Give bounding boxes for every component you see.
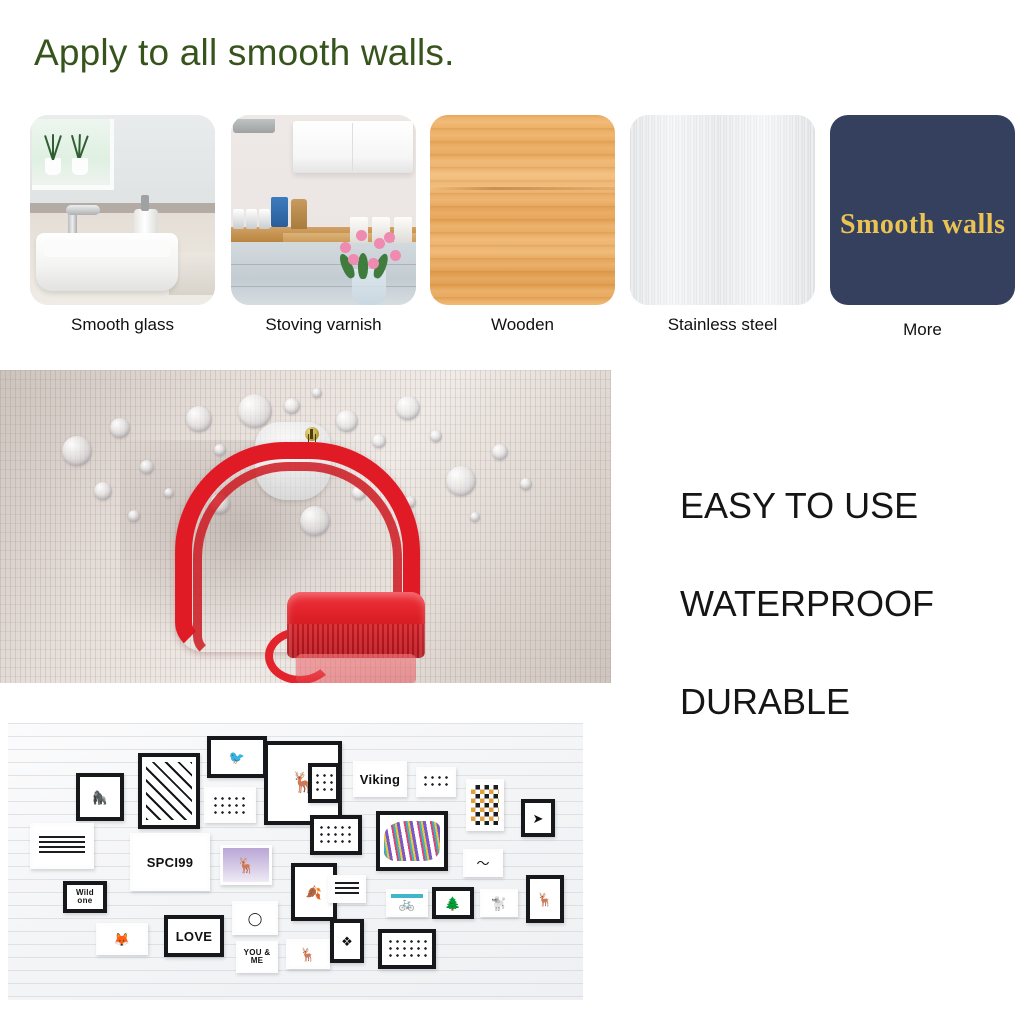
- picture-frame: 🦌: [286, 939, 330, 969]
- sink: [36, 233, 178, 291]
- surface-swatch-wooden[interactable]: Wooden: [430, 115, 615, 305]
- feature-durable: DURABLE: [680, 682, 1010, 722]
- cutting-board-icon: [291, 199, 307, 229]
- range-hood-icon: [233, 119, 275, 133]
- water-droplet: [396, 396, 420, 420]
- water-droplet: [470, 512, 480, 522]
- surface-swatch-stainless-steel[interactable]: Stainless steel: [630, 115, 815, 305]
- frame-text-you-me: YOU & ME: [239, 949, 275, 965]
- water-droplet: [446, 466, 476, 496]
- picture-frame: Wildone: [63, 881, 107, 913]
- water-droplet: [284, 398, 300, 414]
- picture-frame-spci99: SPCI99: [130, 833, 210, 891]
- surface-label-stoving-varnish: Stoving varnish: [231, 315, 416, 335]
- water-droplet: [140, 460, 154, 474]
- picture-frame-viking: Viking: [353, 761, 407, 797]
- picture-frame: [310, 815, 362, 855]
- picture-frame: 🦊: [96, 923, 148, 955]
- water-droplet: [336, 410, 358, 432]
- feature-list: EASY TO USE WATERPROOF DURABLE: [680, 486, 1010, 722]
- bottle-neck: [296, 654, 416, 683]
- surface-swatch-smooth-glass[interactable]: Smooth glass: [30, 115, 215, 305]
- frame-text-viking: Viking: [360, 773, 401, 786]
- surface-label-wooden: Wooden: [430, 315, 615, 335]
- stainless-steel-image: [630, 115, 815, 305]
- photo-wall-image: 🦍 🐦 🦌 SPCI99 Wildone 🍂 🦊 LOVE ◯ YOU & ME…: [8, 723, 583, 1000]
- picture-frame: 🦌: [526, 875, 564, 923]
- picture-frame: [378, 929, 436, 969]
- picture-frame: [416, 767, 456, 797]
- wall-trim: [30, 203, 215, 213]
- feature-waterproof: WATERPROOF: [680, 584, 1010, 624]
- picture-frame-love: LOVE: [164, 915, 224, 957]
- frame-text-spci99: SPCI99: [147, 856, 194, 869]
- smooth-glass-image: [30, 115, 215, 305]
- kitchen-scene: [231, 115, 416, 305]
- water-droplet: [110, 418, 130, 438]
- picture-frame: [466, 779, 504, 831]
- picture-frame: [30, 823, 94, 869]
- wooden-image: [430, 115, 615, 305]
- water-droplet: [492, 444, 508, 460]
- navy-card: Smooth walls: [830, 115, 1015, 305]
- water-droplet: [430, 430, 442, 442]
- navy-card-text: Smooth walls: [840, 209, 1005, 241]
- surface-label-stainless-steel: Stainless steel: [630, 315, 815, 335]
- hook-screw-icon: [305, 427, 319, 441]
- picture-frame: [204, 787, 256, 823]
- surface-swatch-stoving-varnish[interactable]: Stoving varnish: [231, 115, 416, 305]
- water-droplet: [128, 510, 140, 522]
- picture-frame: ➤: [521, 799, 555, 837]
- wall-cabinet: [293, 121, 413, 173]
- water-droplet: [238, 394, 272, 428]
- stoving-varnish-image: [231, 115, 416, 305]
- picture-frame: [220, 845, 272, 885]
- water-droplet: [164, 488, 174, 498]
- picture-frame: [328, 875, 366, 903]
- bathroom-scene: [30, 115, 215, 305]
- picture-frame: [138, 753, 200, 829]
- window-icon: [32, 119, 114, 190]
- picture-frame: 🦍: [76, 773, 124, 821]
- picture-frame-you-and-me: YOU & ME: [236, 941, 278, 973]
- picture-frame: 〜: [463, 849, 503, 877]
- water-droplet: [62, 436, 92, 466]
- flower-vase-icon: [324, 211, 416, 305]
- steel-texture: [630, 115, 815, 305]
- feature-easy-to-use: EASY TO USE: [680, 486, 1010, 526]
- picture-frame: ❖: [330, 919, 364, 963]
- wood-texture: [430, 115, 615, 305]
- water-droplet: [520, 478, 532, 490]
- hook-product-photo: [0, 370, 611, 683]
- surface-label-more: More: [830, 320, 1015, 340]
- water-droplet: [94, 482, 112, 500]
- red-bottle-cap: [287, 592, 425, 658]
- surface-swatch-more[interactable]: Smooth walls More: [830, 115, 1015, 305]
- surface-swatch-strip: Smooth glass: [0, 115, 1024, 355]
- picture-frame: 🐦: [207, 736, 267, 778]
- plant-icon: [68, 130, 90, 160]
- water-droplet: [186, 406, 212, 432]
- picture-frame: [308, 763, 340, 803]
- water-droplet: [312, 388, 322, 398]
- more-card-image: Smooth walls: [830, 115, 1015, 305]
- picture-frame: 🐩: [480, 889, 518, 917]
- picture-frame: ◯: [232, 901, 278, 935]
- utensil-holder-icon: [271, 197, 288, 227]
- frame-text-love: LOVE: [176, 930, 213, 943]
- page-title: Apply to all smooth walls.: [34, 30, 455, 76]
- surface-label-smooth-glass: Smooth glass: [30, 315, 215, 335]
- plant-icon: [42, 130, 64, 160]
- picture-frame: 🌲: [432, 887, 474, 919]
- picture-frame: [376, 811, 448, 871]
- picture-frame: 🚲: [386, 889, 428, 917]
